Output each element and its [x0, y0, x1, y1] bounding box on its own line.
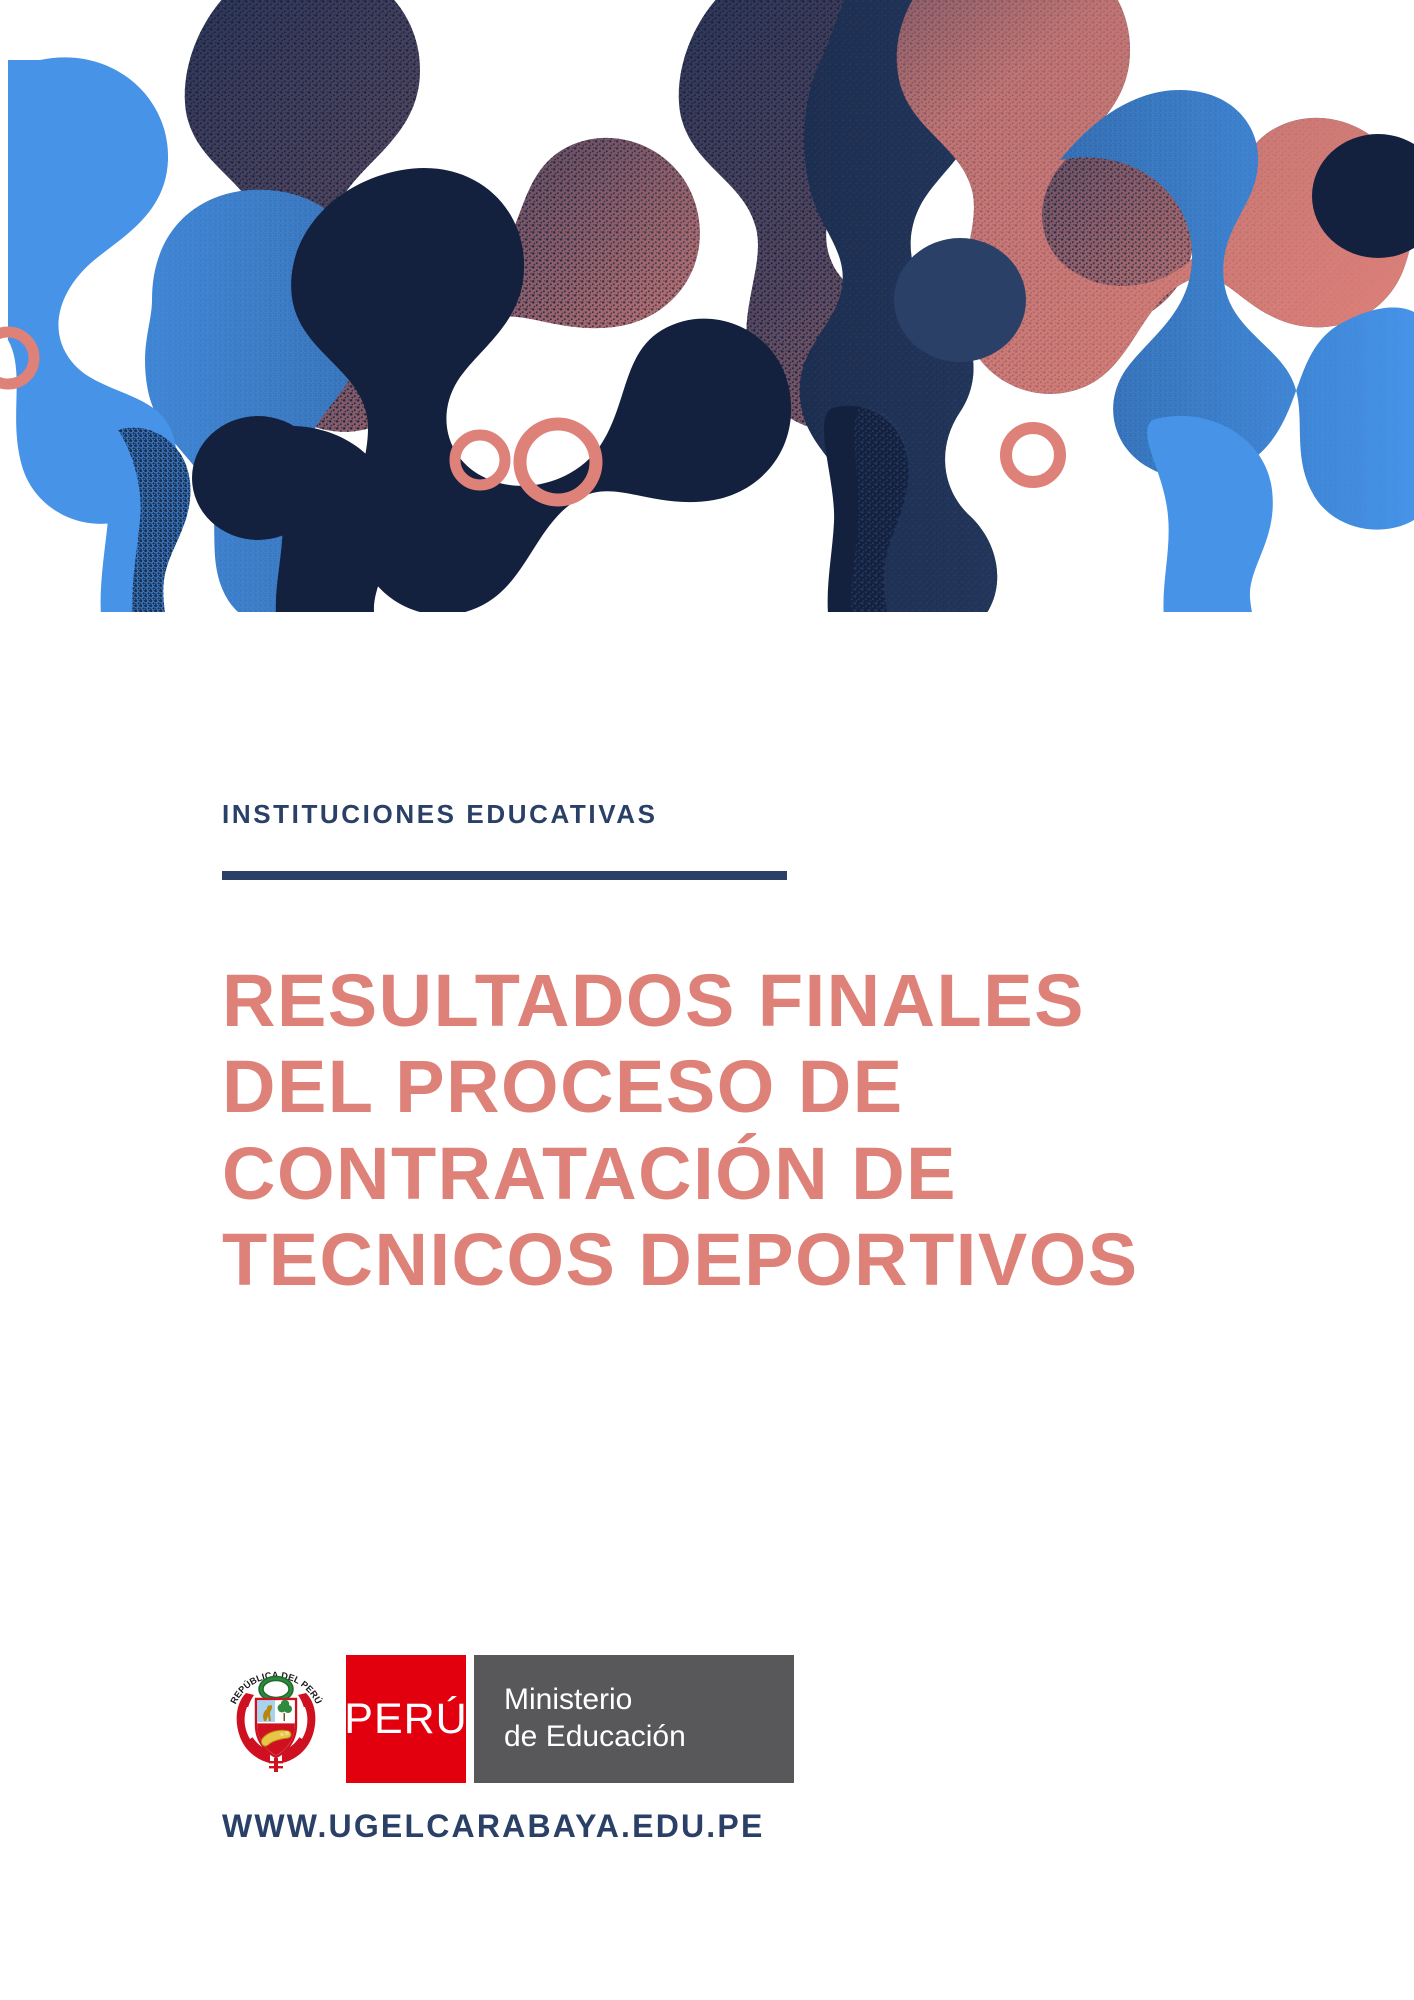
- ministry-line-1: Ministerio: [504, 1682, 794, 1719]
- cover-content: INSTITUCIONES EDUCATIVAS RESULTADOS FINA…: [222, 800, 1322, 1304]
- ministry-line-2: de Educación: [504, 1719, 794, 1756]
- eyebrow-label: INSTITUCIONES EDUCATIVAS: [222, 800, 1322, 829]
- website-url[interactable]: WWW.UGELCARABAYA.EDU.PE: [222, 1808, 765, 1845]
- peru-coat-of-arms-icon: REPÚBLICA DEL PERÚ: [222, 1655, 330, 1783]
- title-line-1: RESULTADOS FINALES: [222, 958, 1322, 1045]
- peru-red-block: PERÚ: [346, 1655, 466, 1783]
- peru-label: PERÚ: [344, 1698, 467, 1741]
- ministry-gray-block: Ministerio de Educación: [474, 1655, 794, 1783]
- minedu-logo-lockup: REPÚBLICA DEL PERÚ: [222, 1655, 794, 1783]
- title-line-3: CONTRATACIÓN DE: [222, 1131, 1322, 1218]
- title-line-2: DEL PROCESO DE: [222, 1044, 1322, 1131]
- title-line-4: TECNICOS DEPORTIVOS: [222, 1217, 1322, 1304]
- title-divider-rule: [222, 871, 787, 880]
- blob-dot-navy-1: [894, 238, 1026, 362]
- header-decorative-pattern: [0, 0, 1414, 640]
- poster-page: INSTITUCIONES EDUCATIVAS RESULTADOS FINA…: [0, 0, 1414, 2000]
- page-title: RESULTADOS FINALES DEL PROCESO DE CONTRA…: [222, 958, 1322, 1304]
